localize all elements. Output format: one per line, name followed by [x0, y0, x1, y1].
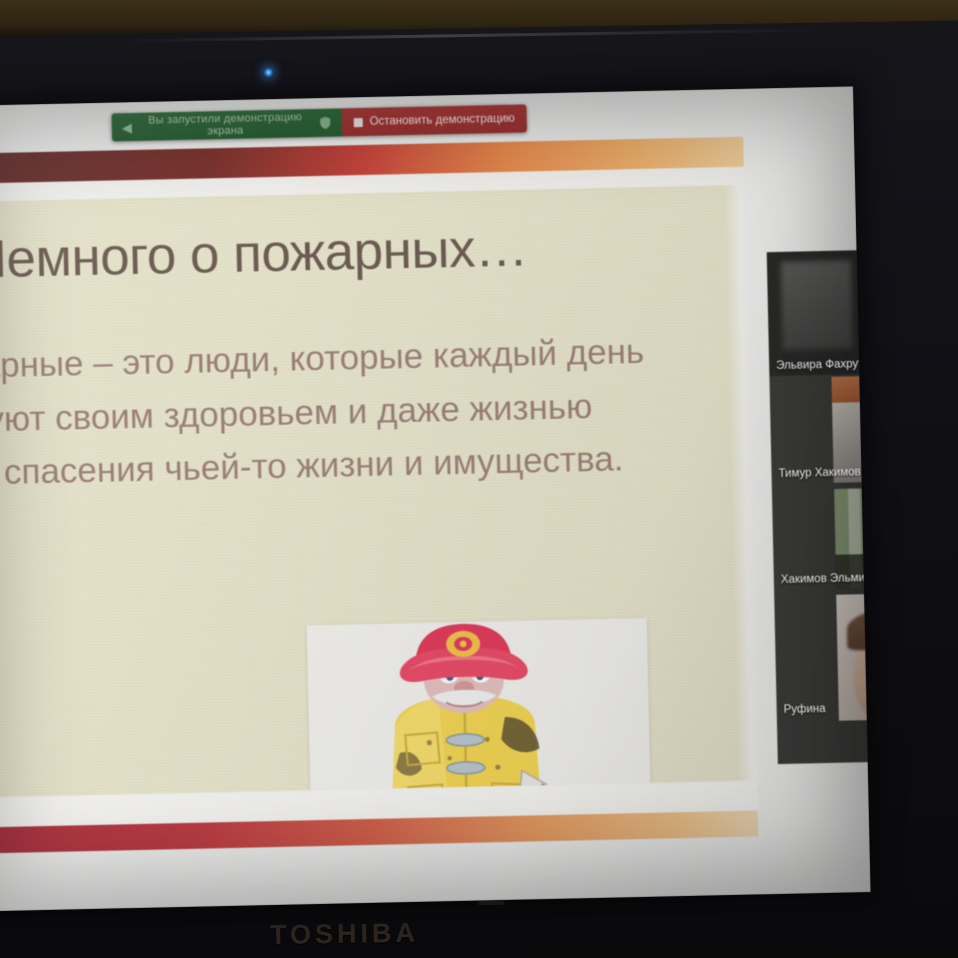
- shield-icon[interactable]: [318, 116, 331, 130]
- chevron-left-icon[interactable]: ◀: [122, 121, 132, 134]
- webcam-led-icon: [264, 68, 273, 77]
- stop-square-icon: [353, 117, 362, 126]
- participant-name: Тимур Хакимов: [778, 466, 860, 480]
- laptop-brand-logo: TOSHIBA: [270, 916, 531, 954]
- stop-sharing-button[interactable]: Остановить демонстрацию: [341, 104, 527, 136]
- participant-name: Руфина: [784, 703, 826, 716]
- share-status-label: Вы запустили демонстрацию экрана: [140, 111, 311, 139]
- shared-slide: Немного о пожарных… Пожарные – это люди,…: [0, 137, 758, 854]
- slide-title: Немного о пожарных…: [0, 214, 669, 290]
- photo-of-laptop-screen: TOSHIBA ◀ Вы запустили демонстрацию экра…: [0, 0, 958, 958]
- participant-name: Хакимов Эльмир: [781, 572, 871, 586]
- slide-content-area: Немного о пожарных… Пожарные – это люди,…: [0, 185, 758, 824]
- share-status-region: ◀ Вы запустили демонстрацию экрана: [112, 108, 342, 141]
- stop-sharing-label: Остановить демонстрацию: [369, 113, 514, 128]
- participant-name: Эльвира Фахрутдинова: [776, 357, 871, 372]
- participant-video[interactable]: [767, 248, 871, 376]
- participants-panel[interactable]: Эльвира Фахрутдинова Тимур Хакимов Хаким…: [767, 248, 871, 764]
- slide-body-text: Пожарные – это люди, которые каждый день…: [0, 325, 656, 502]
- laptop-screen: ◀ Вы запустили демонстрацию экрана Остан…: [0, 86, 871, 911]
- bezel-sensor: [478, 901, 504, 905]
